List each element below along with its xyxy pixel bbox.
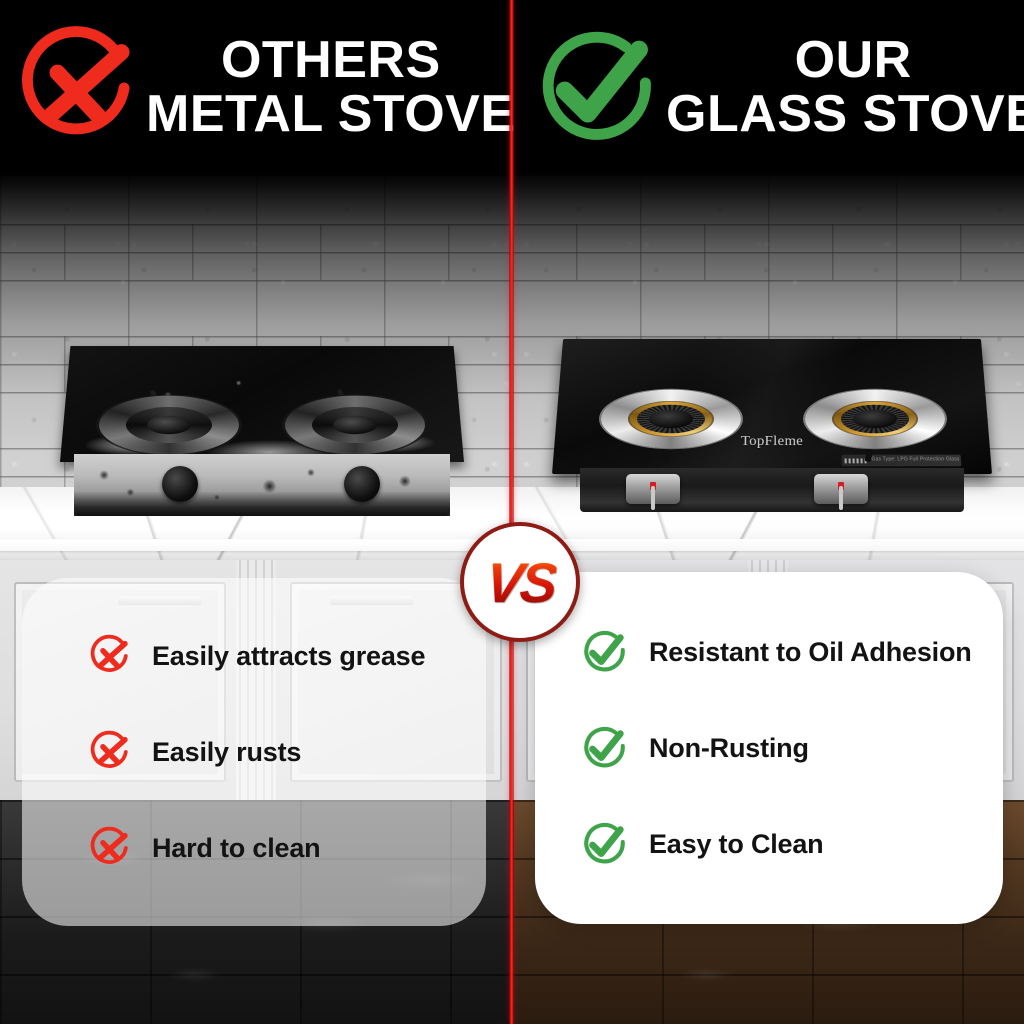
header-right-text: OUR GLASS STOVE bbox=[666, 36, 1024, 140]
vertical-divider bbox=[509, 0, 514, 1024]
list-item: Hard to clean bbox=[22, 800, 486, 896]
list-item: Easy to Clean bbox=[535, 796, 1003, 892]
header-left: OTHERS METAL STOVE bbox=[0, 0, 526, 176]
list-item-label: Easily attracts grease bbox=[152, 641, 425, 672]
header-right-title: OUR bbox=[795, 36, 912, 86]
brand-logo: TopFleme bbox=[741, 434, 803, 450]
header-right: OUR GLASS STOVE bbox=[512, 0, 1024, 176]
pros-feature-card: Resistant to Oil Adhesion Non-Rusting Ea… bbox=[535, 572, 1003, 924]
header-left-subtitle: METAL STOVE bbox=[146, 90, 516, 140]
knob-stem bbox=[651, 486, 655, 510]
circle-x-icon bbox=[14, 24, 142, 152]
list-item: Easily attracts grease bbox=[22, 608, 486, 704]
list-item-label: Non-Rusting bbox=[649, 733, 809, 764]
list-item-label: Hard to clean bbox=[152, 833, 320, 864]
burner-cap bbox=[333, 416, 377, 434]
cons-feature-card: Easily attracts grease Easily rusts Ha bbox=[22, 578, 486, 926]
list-item: Easily rusts bbox=[22, 704, 486, 800]
control-knob bbox=[626, 474, 680, 504]
list-item-label: Easy to Clean bbox=[649, 829, 823, 860]
glass-stove-product: TopFleme Gas Type: LPG Full Protection G… bbox=[552, 328, 992, 518]
list-item: Resistant to Oil Adhesion bbox=[535, 604, 1003, 700]
vs-badge: VS bbox=[460, 522, 580, 642]
stove-body bbox=[74, 454, 450, 516]
header-right-subtitle: GLASS STOVE bbox=[666, 90, 1024, 140]
circle-x-icon bbox=[88, 826, 132, 870]
circle-check-icon bbox=[534, 24, 662, 152]
comparison-infographic: TopFleme Gas Type: LPG Full Protection G… bbox=[0, 0, 1024, 1024]
circle-x-icon bbox=[88, 634, 132, 678]
list-item-label: Easily rusts bbox=[152, 737, 301, 768]
burner-cap bbox=[853, 410, 897, 428]
circle-x-icon bbox=[88, 730, 132, 774]
knob-stem bbox=[839, 486, 843, 510]
circle-check-icon bbox=[581, 724, 629, 772]
counter-lip bbox=[512, 539, 1024, 551]
circle-check-icon bbox=[581, 628, 629, 676]
vs-label: VS bbox=[482, 550, 558, 615]
rust-stains bbox=[74, 454, 450, 516]
list-item-label: Resistant to Oil Adhesion bbox=[649, 637, 972, 668]
header-left-title: OTHERS bbox=[221, 36, 441, 86]
burner-cap bbox=[147, 416, 191, 434]
list-item: Non-Rusting bbox=[535, 700, 1003, 796]
control-knob bbox=[162, 466, 198, 502]
counter-lip bbox=[0, 539, 512, 551]
header-left-text: OTHERS METAL STOVE bbox=[146, 36, 516, 140]
metal-stove-product bbox=[52, 336, 472, 516]
control-knob bbox=[344, 466, 380, 502]
control-knob bbox=[814, 474, 868, 504]
burner-cap bbox=[649, 410, 693, 428]
circle-check-icon bbox=[581, 820, 629, 868]
